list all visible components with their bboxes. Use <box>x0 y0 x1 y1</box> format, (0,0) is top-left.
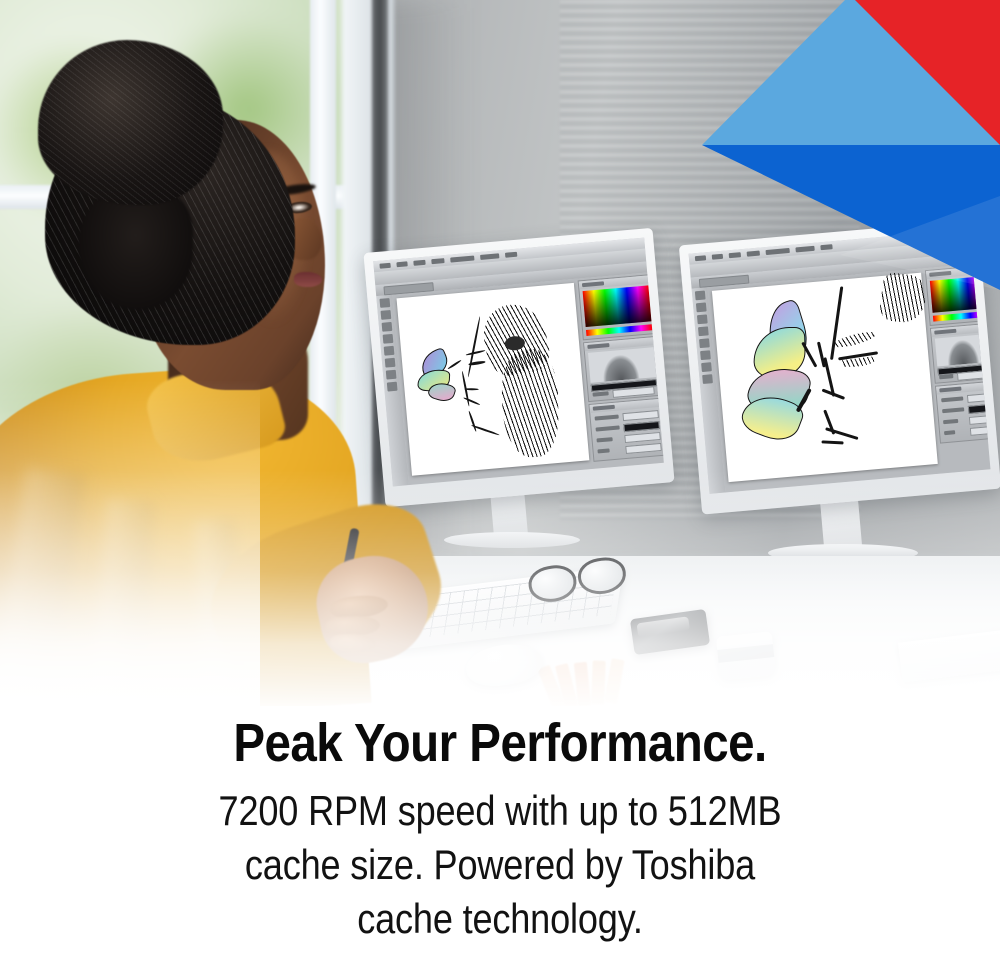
menu-edit[interactable] <box>712 254 723 260</box>
text-tool-icon[interactable] <box>702 374 713 384</box>
eraser-tool-icon[interactable] <box>700 350 711 360</box>
size-input[interactable] <box>970 425 991 436</box>
label-density <box>596 437 612 442</box>
histogram-graph <box>588 347 656 383</box>
preset-select[interactable] <box>957 370 991 381</box>
subtitle-line-3: cache technology. <box>70 892 930 946</box>
shadow-color-swatch[interactable] <box>623 421 660 432</box>
shadow-preset-select[interactable] <box>622 410 659 421</box>
label-shadow-preset <box>941 396 963 402</box>
copy-block: Peak Your Performance. 7200 RPM speed wi… <box>0 706 1000 969</box>
panel-color[interactable] <box>578 274 657 340</box>
lasso-tool-icon[interactable] <box>696 302 707 312</box>
menu-color[interactable] <box>431 258 444 264</box>
illustration-hair <box>878 272 928 325</box>
product-banner: Peak Your Performance. 7200 RPM speed wi… <box>0 0 1000 969</box>
color-picker-square[interactable] <box>930 276 989 313</box>
monitor-right-screen <box>689 229 991 494</box>
monitor-left-stand-base <box>444 532 580 548</box>
label-density <box>943 419 958 424</box>
page-subtitle: 7200 RPM speed with up to 512MB cache si… <box>70 772 930 946</box>
artboard-color-illustration[interactable] <box>712 273 938 483</box>
density-input[interactable] <box>969 414 991 425</box>
menu-window[interactable] <box>480 253 499 260</box>
brush-tool-icon[interactable] <box>698 326 709 336</box>
menu-preferences[interactable] <box>766 248 790 255</box>
histogram-graph <box>935 334 991 367</box>
label-shadow-color <box>942 407 964 413</box>
color-picker-square[interactable] <box>583 285 652 327</box>
designer <box>0 0 430 712</box>
zoom-tool-icon[interactable] <box>699 338 710 348</box>
panel-histogram[interactable] <box>583 336 662 402</box>
subtitle-line-2: cache size. Powered by Toshiba <box>70 838 930 892</box>
label-shadow-preset <box>595 415 619 421</box>
menu-view[interactable] <box>729 252 741 258</box>
density-input[interactable] <box>624 432 661 443</box>
monitor-right-canvas-area[interactable] <box>708 264 991 492</box>
subtitle-line-1: 7200 RPM speed with up to 512MB <box>70 784 930 838</box>
panel-color-title <box>926 266 988 279</box>
panel-effects[interactable] <box>935 380 990 443</box>
sketch-ponytail <box>501 349 559 458</box>
lips <box>294 272 322 287</box>
hue-slider[interactable] <box>933 311 989 322</box>
page-title: Peak Your Performance. <box>60 706 940 772</box>
label-preset <box>939 374 953 379</box>
label-size <box>944 430 955 435</box>
shape-tool-icon[interactable] <box>701 362 712 372</box>
label-size <box>597 448 609 453</box>
menu-window[interactable] <box>795 246 814 253</box>
crop-tool-icon[interactable] <box>697 314 708 324</box>
menu-preferences[interactable] <box>450 255 474 262</box>
menu-color[interactable] <box>747 251 760 257</box>
shadow-preset-select[interactable] <box>967 392 991 403</box>
menu-help[interactable] <box>820 244 832 250</box>
cup <box>716 631 776 681</box>
illustration-eyebrow <box>832 329 877 350</box>
panel-histogram-title <box>931 324 990 337</box>
label-preset <box>592 391 608 396</box>
pointer-tool-icon[interactable] <box>695 290 706 300</box>
panel-color[interactable] <box>925 265 991 326</box>
monitor-left-canvas-area[interactable] <box>392 272 664 485</box>
panel-effects[interactable] <box>588 398 663 462</box>
menu-help[interactable] <box>505 252 517 258</box>
label-shadow-color <box>596 425 620 431</box>
menu-file[interactable] <box>695 255 706 261</box>
shadow-color-swatch[interactable] <box>968 403 991 414</box>
panel-histogram[interactable] <box>930 322 991 383</box>
monitor-right <box>679 219 1000 514</box>
size-input[interactable] <box>625 443 662 454</box>
hero-photo <box>0 0 1000 712</box>
